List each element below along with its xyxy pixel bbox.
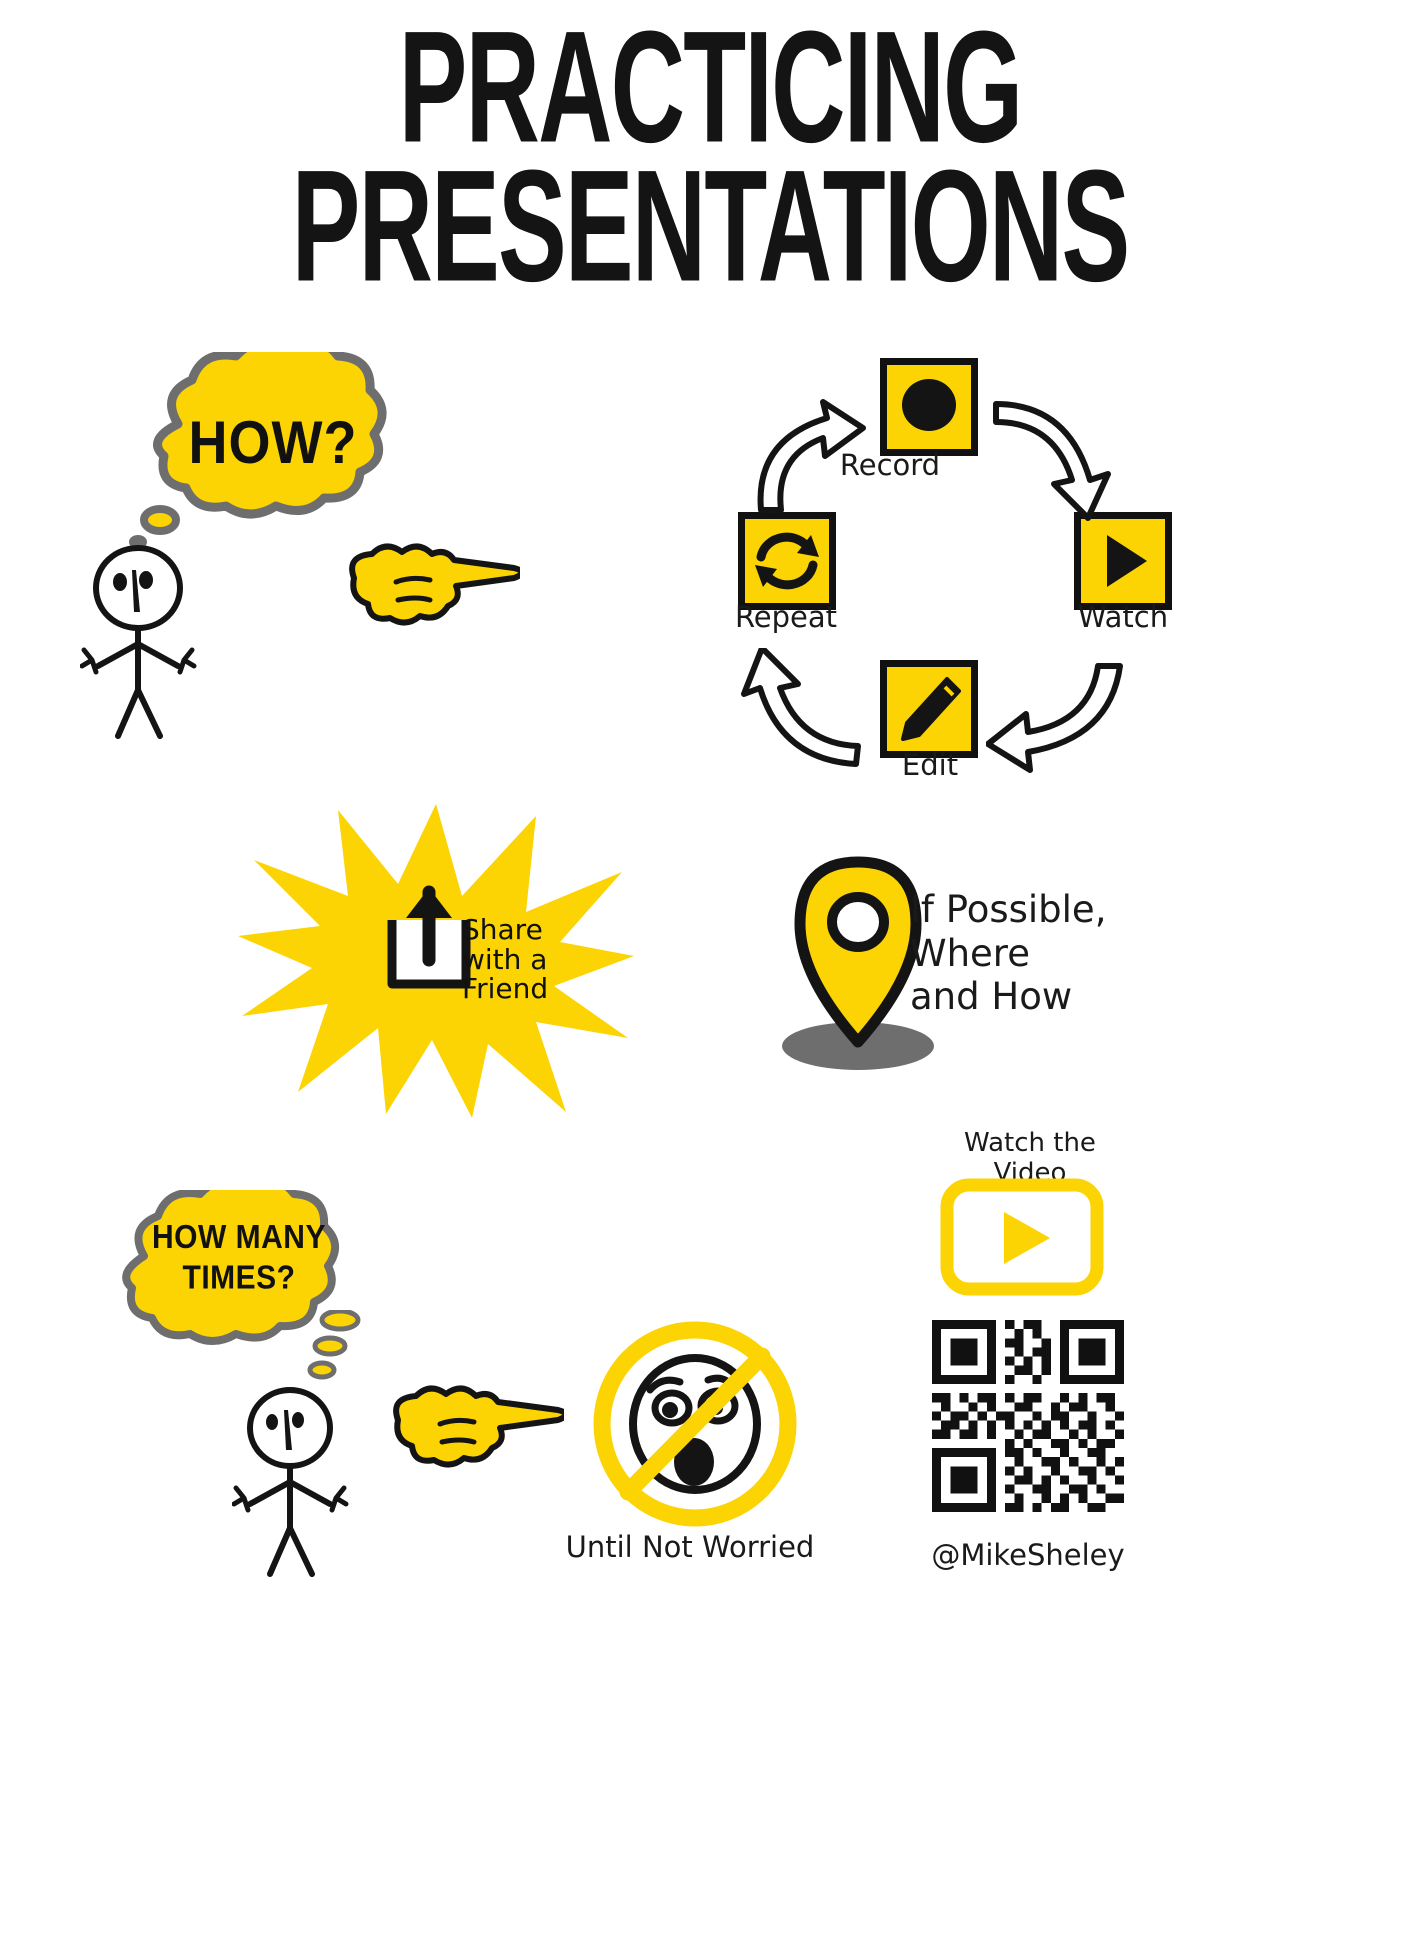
pointing-hand-icon	[340, 530, 520, 640]
page-title: PRACTICING PRESENTATIONS	[0, 18, 1420, 255]
arrow-record-to-watch	[992, 392, 1142, 522]
refresh-loop-icon	[745, 519, 829, 603]
share-caption: Share with a Friend	[462, 915, 592, 1004]
place-line-3: and How	[910, 975, 1210, 1019]
arrow-watch-to-edit	[986, 650, 1136, 780]
thought-bubble-how-many-text: HOW MANY TIMES?	[128, 1218, 350, 1299]
place-caption: If Possible, Where and How	[910, 888, 1210, 1019]
qr-code	[932, 1320, 1124, 1512]
poster-canvas: PRACTICING PRESENTATIONS HOW?	[0, 0, 1420, 1940]
place-line-1: If Possible,	[910, 888, 1210, 932]
stick-figure-shrugging	[80, 540, 210, 740]
no-symbol-over-worried-face	[590, 1320, 800, 1530]
arrow-edit-to-repeat	[740, 648, 890, 778]
how-many-line-1: HOW MANY	[128, 1218, 350, 1258]
thought-bubble-how-text: HOW?	[168, 408, 378, 477]
play-triangle-icon	[1081, 519, 1165, 603]
place-line-2: Where	[910, 932, 1210, 976]
title-line-2: PRESENTATIONS	[57, 157, 1363, 297]
cycle-tile-watch[interactable]	[1074, 512, 1172, 610]
cycle-tile-repeat[interactable]	[738, 512, 836, 610]
author-handle: @MikeSheley	[928, 1538, 1128, 1572]
youtube-play-button[interactable]	[940, 1178, 1104, 1296]
how-many-line-2: TIMES?	[128, 1259, 350, 1299]
pencil-icon	[887, 667, 971, 751]
pointing-hand-icon-lower	[384, 1372, 564, 1482]
cycle-label-repeat: Repeat	[696, 600, 876, 634]
thought-bubble-trail	[300, 1310, 370, 1390]
cycle-label-watch: Watch	[1033, 600, 1213, 634]
record-dot-icon	[887, 365, 971, 449]
share-upload-icon	[384, 884, 474, 992]
stick-figure-thinking	[232, 1380, 362, 1580]
arrow-repeat-to-record	[745, 390, 895, 520]
until-not-worried-caption: Until Not Worried	[530, 1530, 850, 1564]
cycle-tile-edit[interactable]	[880, 660, 978, 758]
share-line-3: Friend	[462, 974, 592, 1004]
share-line-2: with a	[462, 945, 592, 975]
share-line-1: Share	[462, 915, 592, 945]
